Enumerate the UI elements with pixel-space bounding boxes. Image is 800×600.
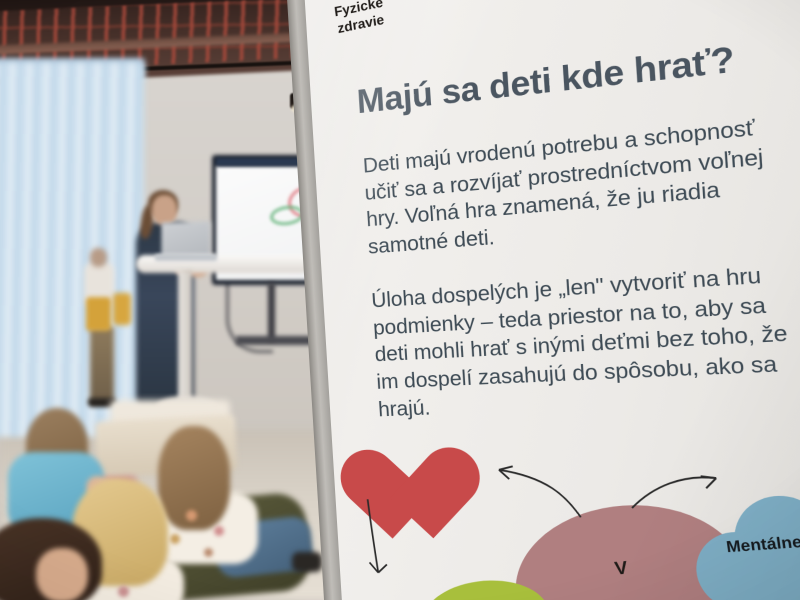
arrow-oval-to-cloud [627, 469, 723, 521]
laptop-base [155, 254, 217, 261]
podium-stem [178, 270, 192, 402]
standing-person-bag-2 [113, 293, 131, 325]
panel-front-face: Majú sa deti kde hrať? Deti majú vrodenú… [303, 0, 800, 600]
child-3-pattern-dot [170, 534, 180, 544]
child-2-pattern-dot [118, 586, 129, 597]
standing-person-bag [86, 297, 111, 331]
blue-strip-curtain [0, 62, 144, 437]
standing-person-legs [90, 327, 114, 403]
panel-title: Majú sa deti kde hrať? [356, 33, 800, 120]
panel-content: Majú sa deti kde hrať? Deti majú vrodenú… [303, 0, 800, 600]
heart-label: Fyzické zdravie [310, 0, 410, 43]
arrow-oval-to-heart [484, 438, 588, 525]
panel-paragraph-2: Úloha dospelých je „len" vytvoriť na hru… [371, 259, 800, 424]
panel-paragraph-1: Deti majú vrodenú potrebu a schopnosť uč… [362, 110, 800, 262]
standing-person-head [90, 248, 107, 267]
child-4-face [36, 548, 88, 600]
information-panel: Majú sa deti kde hrať? Deti majú vrodenú… [280, 0, 800, 600]
child-3-pattern-dot [186, 510, 197, 521]
display-screen-stand [268, 283, 275, 341]
child-3-pattern-dot [204, 548, 213, 557]
screenshot-root: Majú sa deti kde hrať? Deti majú vrodenú… [0, 0, 800, 600]
child-3-pattern-dot [214, 526, 224, 536]
presenter-head [152, 195, 177, 225]
arrow-down-left [357, 497, 399, 583]
